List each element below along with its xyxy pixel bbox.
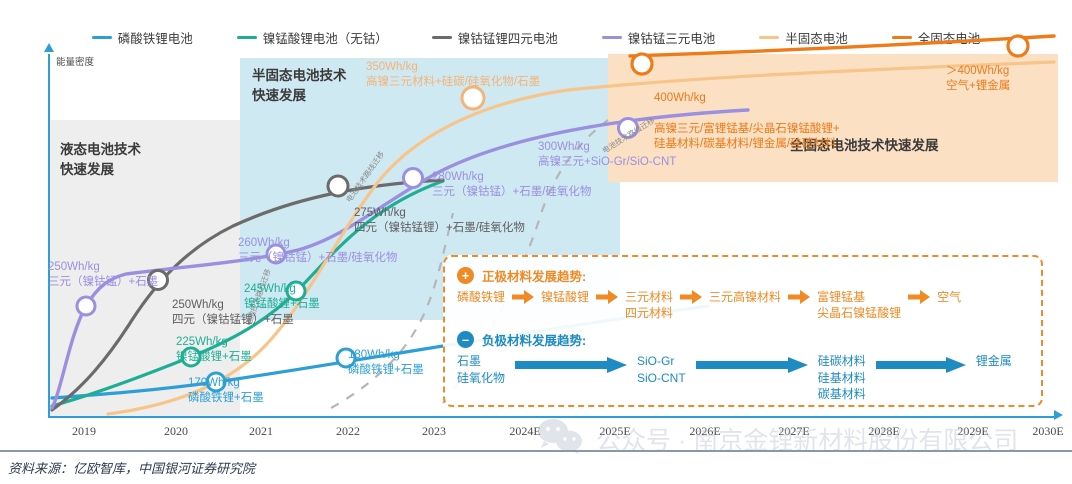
x-tick-2028E: 2028E	[868, 424, 899, 439]
annotation-lnmo-225: 225Wh/kg 镍锰酸锂+石墨	[176, 335, 252, 365]
cathode-node-0: 磷酸铁锂	[457, 289, 505, 305]
x-tick-2022: 2022	[336, 424, 360, 439]
x-axis-tick-labels: 2019 2020 2021 2022 2023 2024E 2025E 202…	[48, 424, 1058, 444]
legend-item-lfp: 磷酸铁锂电池	[92, 28, 193, 47]
x-tick-2025E: 2025E	[599, 424, 630, 439]
legend-swatch-ncm	[602, 36, 622, 39]
annotation-material: 磷酸铁锂+石墨	[348, 363, 424, 378]
x-tick-2023: 2023	[422, 424, 446, 439]
footer-divider	[0, 450, 1072, 452]
anode-node-3: 锂金属	[976, 353, 1012, 369]
marker-ncm-280	[404, 169, 423, 188]
annotation-quaternary-275: 275Wh/kg 四元（镍钴锰锂）+石墨/硅氧化物	[354, 206, 525, 236]
cathode-chain: 磷酸铁锂 镍锰酸锂 三元材料 四元材料 三元高镍材料 富锂锰基 尖晶石镍锰酸锂 …	[457, 289, 1029, 321]
annotation-material: 四元（镍钴锰锂）+石墨/硅氧化物	[354, 221, 525, 236]
annotation-value: 400Wh/kg	[654, 91, 840, 106]
legend-swatch-semi-solid	[759, 36, 779, 39]
annotation-value: 225Wh/kg	[176, 335, 252, 350]
arrow-right-icon	[696, 357, 808, 378]
anode-trend-header: – 负极材料发展趋势:	[457, 330, 1029, 349]
legend-swatch-lnmo	[237, 36, 257, 39]
annotation-material: 四元（镍钴锰锂）+石墨	[172, 313, 294, 328]
x-tick-2019: 2019	[72, 424, 96, 439]
arrow-right-icon	[512, 290, 534, 309]
cathode-node-5: 空气	[937, 289, 961, 305]
annotation-value: ＞400Wh/kg	[946, 64, 1010, 79]
annotation-material: 镍锰酸锂+石墨	[244, 297, 320, 312]
arrow-right-icon	[515, 357, 627, 378]
annotation-material: 三元（镍钴锰）+石墨/硅氧化物	[432, 185, 591, 200]
annotation-material: 三元（镍钴锰）+石墨	[48, 275, 158, 290]
anode-node-1: SiO-Gr SiO-CNT	[637, 353, 686, 385]
annotation-value: 275Wh/kg	[354, 206, 525, 221]
annotation-value: 180Wh/kg	[348, 348, 424, 363]
legend-label-ncm: 镍钴锰三元电池	[628, 28, 716, 47]
arrow-right-icon	[876, 357, 966, 378]
cathode-node-1: 镍锰酸锂	[541, 289, 589, 305]
x-tick-2030E: 2030E	[1032, 424, 1063, 439]
marker-quat-275	[328, 176, 348, 196]
legend-item-quaternary: 镍钴锰锂四元电池	[432, 28, 558, 47]
y-axis-arrow-icon	[44, 43, 54, 52]
anode-node-0: 石墨 硅氧化物	[457, 353, 505, 385]
cathode-trend-title: 正极材料发展趋势:	[482, 266, 586, 285]
minus-icon: –	[457, 331, 474, 348]
annotation-value: 280Wh/kg	[432, 170, 591, 185]
legend-swatch-all-solid	[892, 36, 912, 39]
annotation-value: 170Wh/kg	[188, 376, 264, 391]
cathode-node-2: 三元材料 四元材料	[625, 289, 673, 321]
cathode-node-4: 富锂锰基 尖晶石镍锰酸锂	[817, 289, 901, 321]
anode-node-2: 硅碳材料 硅基材料 碳基材料	[818, 353, 866, 402]
legend-swatch-quaternary	[432, 36, 452, 39]
legend-item-semi-solid: 半固态电池	[759, 28, 848, 47]
marker-solid-400plus	[1008, 36, 1028, 56]
annotation-material: 三元（镍钴锰）+石墨/硅氧化物	[238, 251, 397, 266]
annotation-value: 260Wh/kg	[238, 236, 397, 251]
annotation-value: 245Wh/kg	[244, 282, 320, 297]
annotation-material: 磷酸铁锂+石墨	[188, 391, 264, 406]
arrow-right-icon	[680, 290, 702, 309]
arrow-right-icon	[908, 290, 930, 309]
annotation-lfp-170: 170Wh/kg 磷酸铁锂+石墨	[188, 376, 264, 406]
legend-item-lnmo: 镍锰酸锂电池（无钴）	[237, 28, 388, 47]
marker-ncm-250	[77, 297, 95, 315]
annotation-ncm-280: 280Wh/kg 三元（镍钴锰）+石墨/硅氧化物	[432, 170, 591, 200]
annotation-ncm-250: 250Wh/kg 三元（镍钴锰）+石墨	[48, 260, 158, 290]
legend-label-lfp: 磷酸铁锂电池	[118, 28, 193, 47]
x-tick-2027E: 2027E	[778, 424, 809, 439]
marker-semi-350	[462, 87, 484, 109]
arrow-right-icon	[788, 290, 810, 309]
annotation-lfp-180: 180Wh/kg 磷酸铁锂+石墨	[348, 348, 424, 378]
source-note: 资料来源：亿欧智库，中国银河证券研究院	[8, 458, 255, 477]
legend-label-lnmo: 镍锰酸锂电池（无钴）	[263, 28, 388, 47]
legend-swatch-lfp	[92, 36, 112, 39]
anode-trend-title: 负极材料发展趋势:	[482, 330, 586, 349]
material-trend-box: + 正极材料发展趋势: 磷酸铁锂 镍锰酸锂 三元材料 四元材料 三元高镍材料 富…	[443, 255, 1043, 407]
annotation-ncm-260: 260Wh/kg 三元（镍钴锰）+石墨/硅氧化物	[238, 236, 397, 266]
annotation-all-solid-400plus: ＞400Wh/kg 空气+锂金属	[946, 64, 1010, 94]
anode-chain: 石墨 硅氧化物 SiO-Gr SiO-CNT 硅碳材料 硅基材料 碳基材料 锂金…	[457, 353, 1029, 402]
annotation-material: 高镍三元/富锂锰基/尖晶石镍锰酸锂+ 硅基材料/碳基材料/锂金属/硅碳材料	[654, 122, 840, 152]
annotation-material: 空气+锂金属	[946, 79, 1010, 94]
annotation-material: 高镍三元材料+硅碳/硅氧化物/石墨	[366, 75, 540, 90]
legend-item-ncm: 镍钴锰三元电池	[602, 28, 716, 47]
annotation-semi-solid-350: 350Wh/kg 高镍三元材料+硅碳/硅氧化物/石墨	[366, 60, 540, 90]
cathode-trend-header: + 正极材料发展趋势:	[457, 266, 1029, 285]
battery-roadmap-chart: 磷酸铁锂电池 镍锰酸锂电池（无钴） 镍钴锰锂四元电池 镍钴锰三元电池 半固态电池…	[0, 0, 1072, 484]
annotation-value: 350Wh/kg	[366, 60, 540, 75]
plus-icon: +	[457, 267, 474, 284]
legend-label-quaternary: 镍钴锰锂四元电池	[458, 28, 558, 47]
x-tick-2020: 2020	[164, 424, 188, 439]
cathode-node-3: 三元高镍材料	[709, 289, 781, 305]
legend-label-semi-solid: 半固态电池	[785, 28, 848, 47]
x-tick-2026E: 2026E	[689, 424, 720, 439]
annotation-value: 250Wh/kg	[48, 260, 158, 275]
x-tick-2021: 2021	[249, 424, 273, 439]
annotation-all-solid-400: 400Wh/kg 高镍三元/富锂锰基/尖晶石镍锰酸锂+ 硅基材料/碳基材料/锂金…	[654, 76, 840, 167]
x-tick-2024E: 2024E	[509, 424, 540, 439]
annotation-lnmo-245: 245Wh/kg 镍锰酸锂+石墨	[244, 282, 320, 312]
x-tick-2029E: 2029E	[957, 424, 988, 439]
annotation-material: 镍锰酸锂+石墨	[176, 350, 252, 365]
arrow-right-icon	[596, 290, 618, 309]
marker-solid-400	[632, 54, 652, 74]
